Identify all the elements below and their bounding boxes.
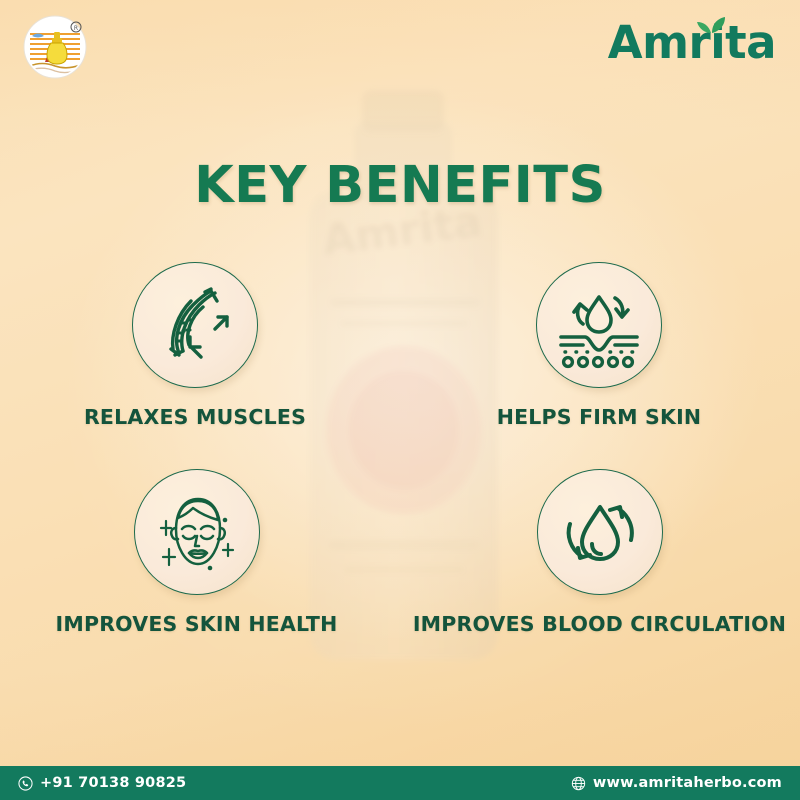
footer-website[interactable]: www.amritaherbo.com xyxy=(571,775,782,791)
benefit-label: HELPS FIRM SKIN xyxy=(497,405,702,429)
benefit-icon-circle xyxy=(134,469,260,595)
footer-phone[interactable]: +91 70138 90825 xyxy=(18,775,186,791)
benefit-icon-circle xyxy=(132,262,258,388)
benefit-label: IMPROVES SKIN HEALTH xyxy=(56,612,338,636)
benefits-row-top: RELAXES MUSCLES xyxy=(0,262,800,429)
benefits-row-bottom: IMPROVES SKIN HEALTH IMPROVES BLOOD CIRC… xyxy=(0,469,800,636)
blood-circulation-droplet-icon xyxy=(554,486,646,578)
benefit-icon-circle xyxy=(536,262,662,388)
brand-wordmark: Amrita xyxy=(608,16,776,68)
footer-phone-text: +91 70138 90825 xyxy=(40,775,186,791)
brand-wordmark-text: Amrita xyxy=(608,20,776,65)
benefit-helps-firm-skin: HELPS FIRM SKIN xyxy=(398,262,800,429)
benefit-icon-circle xyxy=(537,469,663,595)
footer-bar: +91 70138 90825 www.amritaherbo.com xyxy=(0,766,800,800)
muscle-stretch-icon xyxy=(149,279,241,371)
page-title: KEY BENEFITS xyxy=(0,156,800,215)
benefit-improves-skin-health: IMPROVES SKIN HEALTH xyxy=(0,469,397,636)
benefit-relaxes-muscles: RELAXES MUSCLES xyxy=(0,262,396,429)
svg-text:R: R xyxy=(74,25,78,32)
benefit-label: RELAXES MUSCLES xyxy=(84,405,306,429)
benefit-improves-blood-circulation: IMPROVES BLOOD CIRCULATION xyxy=(399,469,800,636)
amrita-oil-jar-seal-logo: R xyxy=(22,14,88,80)
globe-icon xyxy=(571,776,586,791)
skin-hydration-droplet-icon xyxy=(552,278,646,372)
benefit-label: IMPROVES BLOOD CIRCULATION xyxy=(413,612,786,636)
glowing-face-icon xyxy=(149,484,245,580)
whatsapp-phone-icon xyxy=(18,776,33,791)
footer-website-text: www.amritaherbo.com xyxy=(593,775,782,791)
leaf-sprig-icon xyxy=(696,13,730,35)
benefits-grid: RELAXES MUSCLES xyxy=(0,262,800,636)
